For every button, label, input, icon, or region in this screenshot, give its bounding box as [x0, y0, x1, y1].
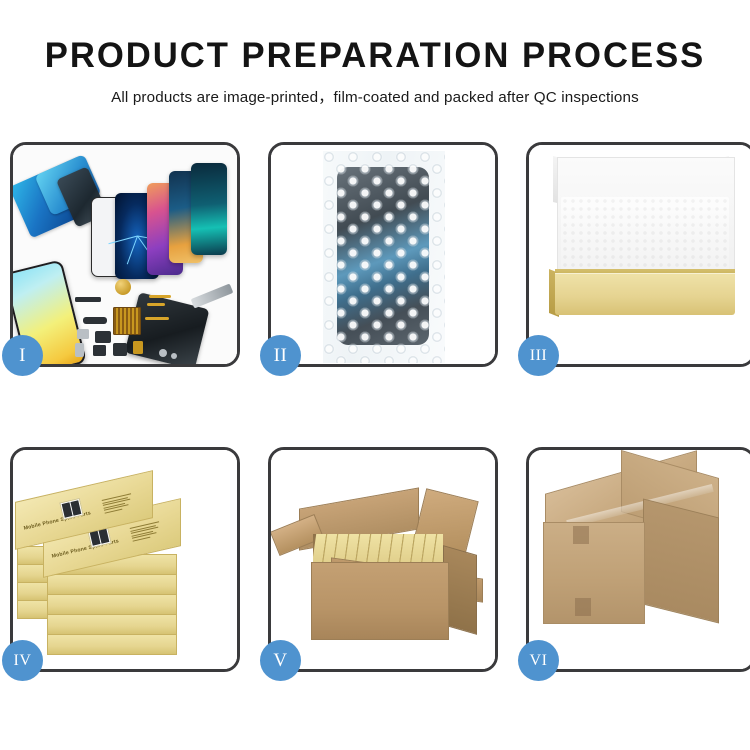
gold-contact-icon [133, 341, 143, 354]
step-5-image [271, 450, 495, 669]
inner-box-with-foam-illustration [529, 145, 750, 364]
step-badge-1: I [2, 335, 43, 376]
step-3-image [529, 145, 750, 364]
step-panel-6[interactable]: VI [526, 447, 750, 672]
carton-front-panel [311, 562, 449, 640]
buzzer-icon [93, 345, 106, 356]
step-numeral: II [274, 346, 288, 365]
step-numeral: VI [530, 653, 548, 669]
screw-2-icon [171, 353, 177, 359]
step-numeral: III [530, 348, 547, 364]
phone-screens-and-parts-illustration [13, 145, 237, 364]
step-numeral: V [273, 651, 287, 670]
step-1-image [13, 145, 237, 364]
flex-cable-icon [149, 295, 171, 298]
connector-grid-icon [113, 307, 141, 335]
sim-tray-icon [75, 343, 84, 357]
screw-icon [159, 349, 167, 357]
box-front-panel [555, 273, 735, 315]
step-badge-5: V [260, 640, 301, 681]
speaker-part-icon [115, 279, 131, 295]
step-numeral: I [19, 346, 26, 365]
page-subtitle: All products are image-printed，film-coat… [0, 73, 750, 107]
step-badge-3: III [518, 335, 559, 376]
step-panel-3[interactable]: III [526, 142, 750, 367]
process-steps-grid: I II [10, 142, 740, 672]
step-badge-4: IV [2, 640, 43, 681]
step-numeral: IV [14, 653, 32, 669]
stacked-box [47, 634, 177, 655]
stacked-box [47, 574, 177, 595]
foam-sheet [561, 197, 729, 275]
stacked-box [47, 614, 177, 635]
stacked-box [47, 594, 177, 615]
step-panel-2[interactable]: II [268, 142, 498, 367]
step-panel-5[interactable]: V [268, 447, 498, 672]
small-part-icon [77, 329, 89, 339]
flex-cable-2-icon [147, 303, 165, 306]
camera-module-icon [83, 317, 107, 324]
open-carton-illustration [271, 450, 495, 669]
flex-cable-3-icon [145, 317, 169, 320]
step-4-image: Mobile Phone Spare Parts Mobile Phone Sp… [13, 450, 237, 669]
carton-right-panel [643, 499, 719, 624]
sealed-carton-illustration [529, 450, 750, 669]
battery-connector-icon [113, 343, 127, 356]
spare-parts-group [71, 273, 191, 364]
carton-front-panel [543, 522, 645, 624]
page-header: PRODUCT PREPARATION PROCESS All products… [0, 0, 750, 107]
step-2-image [271, 145, 495, 364]
step-badge-6: VI [518, 640, 559, 681]
page-title: PRODUCT PREPARATION PROCESS [4, 0, 747, 73]
step-6-image [529, 450, 750, 669]
bubble-wrapped-phone-illustration [271, 145, 495, 364]
step-badge-2: II [260, 335, 301, 376]
step-panel-1[interactable]: I [10, 142, 240, 367]
repair-tweezers-icon [191, 283, 234, 308]
vibrator-icon [95, 331, 111, 343]
stacked-retail-boxes-illustration: Mobile Phone Spare Parts Mobile Phone Sp… [13, 450, 237, 669]
box-stack: Mobile Phone Spare Parts Mobile Phone Sp… [13, 450, 237, 669]
earpiece-mesh-icon [75, 297, 101, 302]
carton-flap-tab [573, 526, 589, 544]
bubble-highlights [323, 151, 445, 363]
carton-flap-tab [575, 598, 591, 616]
teal-display-icon [191, 163, 227, 255]
step-panel-4[interactable]: Mobile Phone Spare Parts Mobile Phone Sp… [10, 447, 240, 672]
